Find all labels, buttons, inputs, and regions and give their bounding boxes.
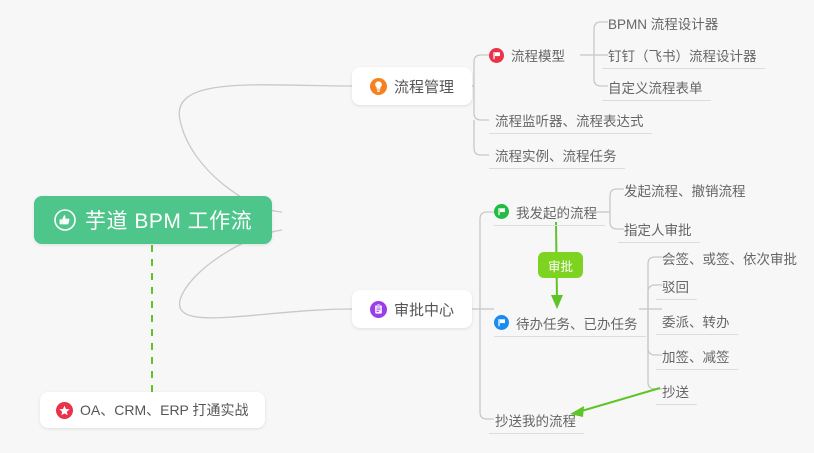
annotation-approval-tag-label: 审批 [548, 256, 573, 275]
node-process-instance-task[interactable]: 流程实例、流程任务 [489, 141, 625, 169]
wire-ac-to-ccme [480, 309, 494, 419]
node-todo-done-tasks[interactable]: 待办任务、已办任务 [494, 309, 646, 337]
node-cc-label: 抄送 [662, 381, 689, 401]
root-label: 芋道 BPM 工作流 [85, 205, 252, 235]
wire-ac-to-initiated [480, 212, 494, 309]
node-todo-done-tasks-label: 待办任务、已办任务 [516, 313, 638, 333]
node-custom-process-form-label: 自定义流程表单 [608, 77, 703, 97]
flag-icon [494, 204, 509, 219]
node-bpmn-designer[interactable]: BPMN 流程设计器 [602, 9, 726, 37]
node-process-model-label: 流程模型 [511, 45, 565, 65]
node-process-listener-expression[interactable]: 流程监听器、流程表达式 [489, 106, 652, 134]
arrow-cc-to-ccme [578, 388, 660, 412]
wire-pm-to-listener [474, 86, 489, 120]
wire-pm-to-instance [474, 120, 489, 155]
annotation-approval-tag: 审批 [538, 252, 583, 278]
node-dingtalk-feishu-designer-label: 钉钉（飞书）流程设计器 [608, 45, 757, 65]
star-icon [56, 402, 73, 419]
node-countersign-orsign-sequential[interactable]: 会签、或签、依次审批 [656, 244, 805, 272]
node-add-remove-sign-label: 加签、减签 [662, 346, 730, 366]
node-start-cancel-process-label: 发起流程、撤销流程 [624, 180, 746, 200]
node-bpmn-designer-label: BPMN 流程设计器 [608, 13, 718, 33]
root-node[interactable]: 芋道 BPM 工作流 [34, 196, 272, 244]
node-dingtalk-feishu-designer[interactable]: 钉钉（飞书）流程设计器 [602, 41, 765, 69]
floating-node-oa-crm-erp[interactable]: OA、CRM、ERP 打通实战 [40, 392, 265, 428]
node-delegate-transfer-label: 委派、转办 [662, 311, 730, 331]
wire-root-to-process-management [179, 85, 352, 212]
node-cc-to-me-process[interactable]: 抄送我的流程 [489, 406, 584, 434]
arrowhead-initiated-to-todo [551, 295, 563, 309]
node-add-remove-sign[interactable]: 加签、减签 [656, 342, 738, 370]
node-assignee-approval[interactable]: 指定人审批 [618, 215, 700, 243]
branch-process-management-label: 流程管理 [394, 76, 454, 97]
node-process-listener-expression-label: 流程监听器、流程表达式 [495, 110, 644, 130]
floating-node-oa-crm-erp-label: OA、CRM、ERP 打通实战 [80, 400, 249, 420]
node-my-initiated-process[interactable]: 我发起的流程 [494, 198, 605, 226]
node-custom-process-form[interactable]: 自定义流程表单 [602, 73, 711, 101]
mindmap-canvas: 芋道 BPM 工作流 流程管理 流程模型 BPMN 流程设计器 钉钉（飞书）流程 [0, 0, 814, 453]
node-cc[interactable]: 抄送 [656, 377, 697, 405]
node-delegate-transfer[interactable]: 委派、转办 [656, 307, 738, 335]
node-reject-label: 驳回 [662, 276, 689, 296]
node-start-cancel-process[interactable]: 发起流程、撤销流程 [618, 176, 754, 204]
branch-approval-center-label: 审批中心 [394, 299, 454, 320]
flag-icon [489, 48, 504, 63]
branch-approval-center[interactable]: 审批中心 [352, 290, 472, 328]
node-countersign-orsign-sequential-label: 会签、或签、依次审批 [662, 248, 797, 268]
branch-process-management[interactable]: 流程管理 [352, 67, 472, 105]
flag-icon [494, 315, 509, 330]
node-assignee-approval-label: 指定人审批 [624, 219, 692, 239]
thumbs-up-icon [54, 209, 76, 231]
node-process-model[interactable]: 流程模型 [489, 41, 573, 69]
node-reject[interactable]: 驳回 [656, 272, 697, 300]
node-cc-to-me-process-label: 抄送我的流程 [495, 410, 576, 430]
node-my-initiated-process-label: 我发起的流程 [516, 202, 597, 222]
lightbulb-icon [370, 78, 387, 95]
clipboard-icon [370, 301, 387, 318]
node-process-instance-task-label: 流程实例、流程任务 [495, 145, 617, 165]
wire-pm-to-model [474, 55, 489, 86]
